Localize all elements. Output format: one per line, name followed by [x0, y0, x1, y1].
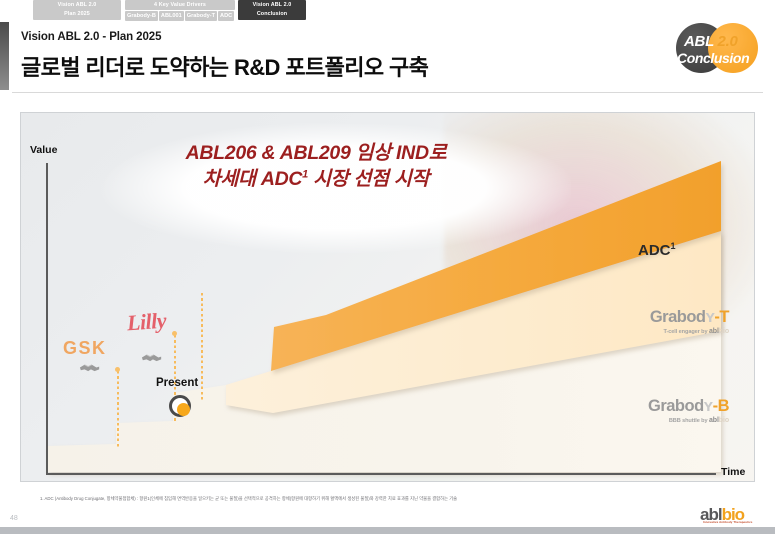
page-number: 48 [10, 515, 18, 522]
slide-nav-tabs: Vision ABL 2.0Plan 2025 4 Key Value Driv… [0, 0, 775, 22]
handshake-icon-gsk [79, 361, 101, 374]
milestone-line-present [201, 293, 203, 401]
nav-group-value-drivers-title: 4 Key Value Drivers [125, 0, 235, 10]
label-grabody-b-main: Grabodʏ-B [549, 398, 729, 415]
present-label: Present [156, 377, 198, 389]
label-adc: ADC1 [638, 241, 676, 259]
time-axis-line [46, 473, 716, 475]
milestone-dot-gsk [115, 367, 120, 372]
ablbio-logo-tagline: Innovative Antibody Therapeutics [703, 520, 753, 524]
milestone-line-gsk [117, 371, 119, 449]
partner-logo-lilly: Lilly [126, 308, 167, 337]
present-marker [169, 395, 191, 417]
nav-group-conclusion-title: Vision ABL 2.0Conclusion [238, 0, 306, 20]
label-grabody-b-sub: BBB shuttle by ablbio [549, 417, 729, 425]
value-axis-line [46, 163, 48, 473]
label-grabody-t-sub: T-cell engager by ablbio [549, 328, 729, 336]
nav-tab-grabody-t[interactable]: Grabody-T [185, 11, 217, 21]
nav-tab-grabody-b[interactable]: Grabody-B [125, 11, 158, 21]
conclusion-badge: ABL 2.0 Conclusion [668, 17, 768, 77]
header-kicker: Vision ABL 2.0 - Plan 2025 [21, 31, 161, 43]
partner-logo-gsk: GSK [63, 338, 107, 359]
header-accent-bar [0, 22, 9, 90]
callout-text: ABL206 & ABL209 임상 IND로 차세대 ADC1 시장 선점 시… [106, 141, 526, 192]
nav-group-plan2025-title: Vision ABL 2.0Plan 2025 [33, 0, 121, 20]
nav-tab-adc[interactable]: ADC [218, 11, 234, 21]
page-title: 글로벌 리더로 도약하는 R&D 포트폴리오 구축 [21, 50, 428, 82]
nav-group-plan2025[interactable]: Vision ABL 2.0Plan 2025 [33, 0, 121, 20]
label-grabody-b: Grabodʏ-B BBB shuttle by ablbio [549, 398, 729, 425]
footnote: 1. ADC (Antibody Drug Conjugate, 항체약물접합체… [40, 496, 460, 503]
badge-line2: Conclusion [677, 50, 767, 66]
footer-band [0, 527, 775, 534]
chart-panel: Value Time ADC1 Grabodʏ-T T-cell engager… [20, 112, 755, 482]
milestone-dot-lilly [172, 331, 177, 336]
value-axis-label: Value [30, 144, 57, 156]
nav-tab-abl001[interactable]: ABL001 [159, 11, 184, 21]
handshake-icon-lilly [141, 351, 163, 364]
nav-group-conclusion[interactable]: Vision ABL 2.0Conclusion [238, 0, 306, 20]
header-divider [12, 92, 763, 93]
ablbio-logo: ablbio Innovative Antibody Therapeutics [700, 505, 744, 525]
time-axis-label: Time [721, 466, 745, 478]
label-grabody-t-main: Grabodʏ-T [549, 309, 729, 326]
nav-group-value-drivers[interactable]: 4 Key Value Drivers Grabody-B ABL001 Gra… [125, 0, 235, 21]
badge-line1: ABL 2.0 [684, 33, 764, 50]
slide-root: Vision ABL 2.0Plan 2025 4 Key Value Driv… [0, 0, 775, 534]
label-grabody-t: Grabodʏ-T T-cell engager by ablbio [549, 309, 729, 336]
